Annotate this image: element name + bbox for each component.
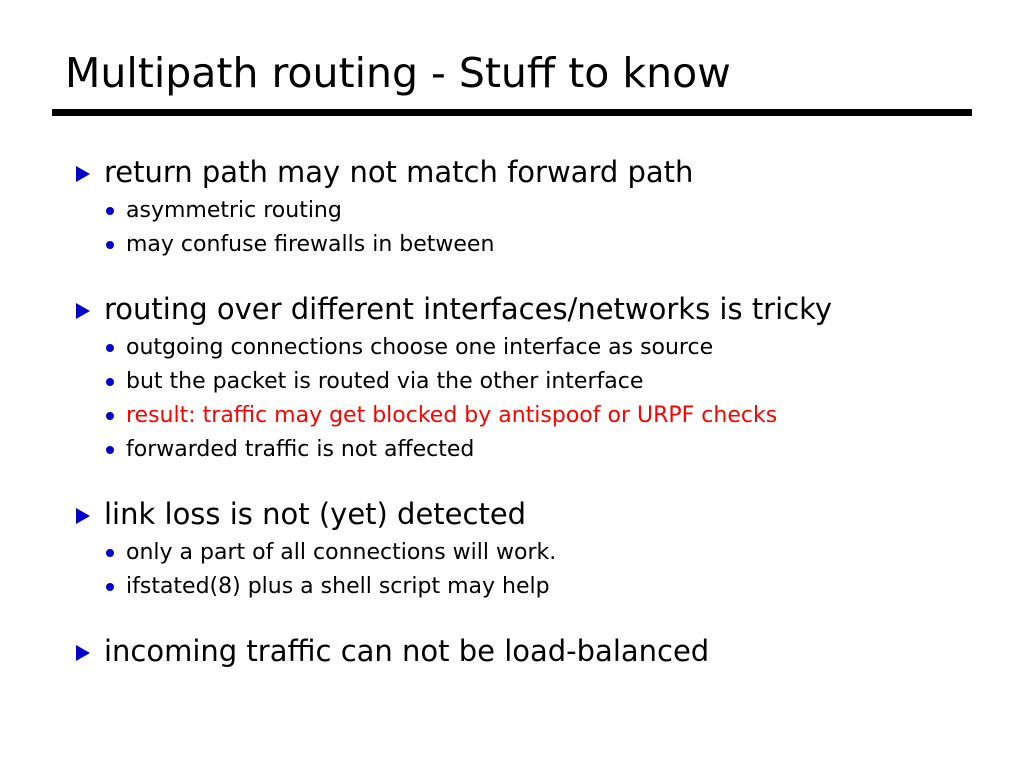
slide-body: return path may not match forward path a… (0, 152, 1024, 671)
bullet-group: incoming traffic can not be load-balance… (0, 631, 1024, 671)
bullet-level2: ifstated(8) plus a shell script may help (0, 570, 1024, 604)
bullet-level2-label: forwarded traffic is not affected (126, 437, 474, 462)
bullet-level2: but the packet is routed via the other i… (0, 365, 1024, 399)
bullet-level2-highlighted: result: traffic may get blocked by antis… (0, 399, 1024, 433)
round-dot-bullet-icon (106, 344, 114, 352)
round-dot-bullet-icon (106, 207, 114, 215)
bullet-level1-label: routing over different interfaces/networ… (104, 292, 832, 326)
bullet-level2-label: outgoing connections choose one interfac… (126, 335, 713, 360)
bullet-level1-label: incoming traffic can not be load-balance… (104, 634, 709, 668)
bullet-level2: only a part of all connections will work… (0, 536, 1024, 570)
bullet-group: link loss is not (yet) detected only a p… (0, 494, 1024, 604)
round-dot-bullet-icon (106, 378, 114, 386)
round-dot-bullet-icon (106, 446, 114, 454)
bullet-level2: may confuse firewalls in between (0, 228, 1024, 262)
triangle-right-bullet-icon (76, 508, 90, 524)
bullet-level1: link loss is not (yet) detected (0, 494, 1024, 534)
bullet-level1: return path may not match forward path (0, 152, 1024, 192)
round-dot-bullet-icon (106, 412, 114, 420)
round-dot-bullet-icon (106, 241, 114, 249)
bullet-level2-label: but the packet is routed via the other i… (126, 369, 643, 394)
bullet-level2: forwarded traffic is not affected (0, 433, 1024, 467)
title-block: Multipath routing - Stuff to know (52, 48, 972, 98)
bullet-level1-label: link loss is not (yet) detected (104, 497, 526, 531)
bullet-level2-label: only a part of all connections will work… (126, 540, 556, 565)
bullet-level1: incoming traffic can not be load-balance… (0, 631, 1024, 671)
bullet-level2: asymmetric routing (0, 194, 1024, 228)
triangle-right-bullet-icon (76, 166, 90, 182)
bullet-group: routing over different interfaces/networ… (0, 289, 1024, 467)
bullet-level1-label: return path may not match forward path (104, 155, 693, 189)
presentation-slide: Multipath routing - Stuff to know return… (0, 0, 1024, 768)
triangle-right-bullet-icon (76, 303, 90, 319)
bullet-sublist: only a part of all connections will work… (0, 536, 1024, 604)
page-title: Multipath routing - Stuff to know (52, 48, 972, 98)
bullet-sublist: asymmetric routing may confuse firewalls… (0, 194, 1024, 262)
bullet-level2-label: asymmetric routing (126, 198, 342, 223)
bullet-level2-label: result: traffic may get blocked by antis… (126, 403, 777, 428)
title-underline-rule (52, 109, 972, 116)
bullet-level2-label: may confuse firewalls in between (126, 232, 494, 257)
bullet-level2: outgoing connections choose one interfac… (0, 331, 1024, 365)
bullet-sublist: outgoing connections choose one interfac… (0, 331, 1024, 467)
bullet-level2-label: ifstated(8) plus a shell script may help (126, 574, 550, 599)
bullet-level1: routing over different interfaces/networ… (0, 289, 1024, 329)
round-dot-bullet-icon (106, 583, 114, 591)
round-dot-bullet-icon (106, 549, 114, 557)
bullet-group: return path may not match forward path a… (0, 152, 1024, 262)
triangle-right-bullet-icon (76, 645, 90, 661)
